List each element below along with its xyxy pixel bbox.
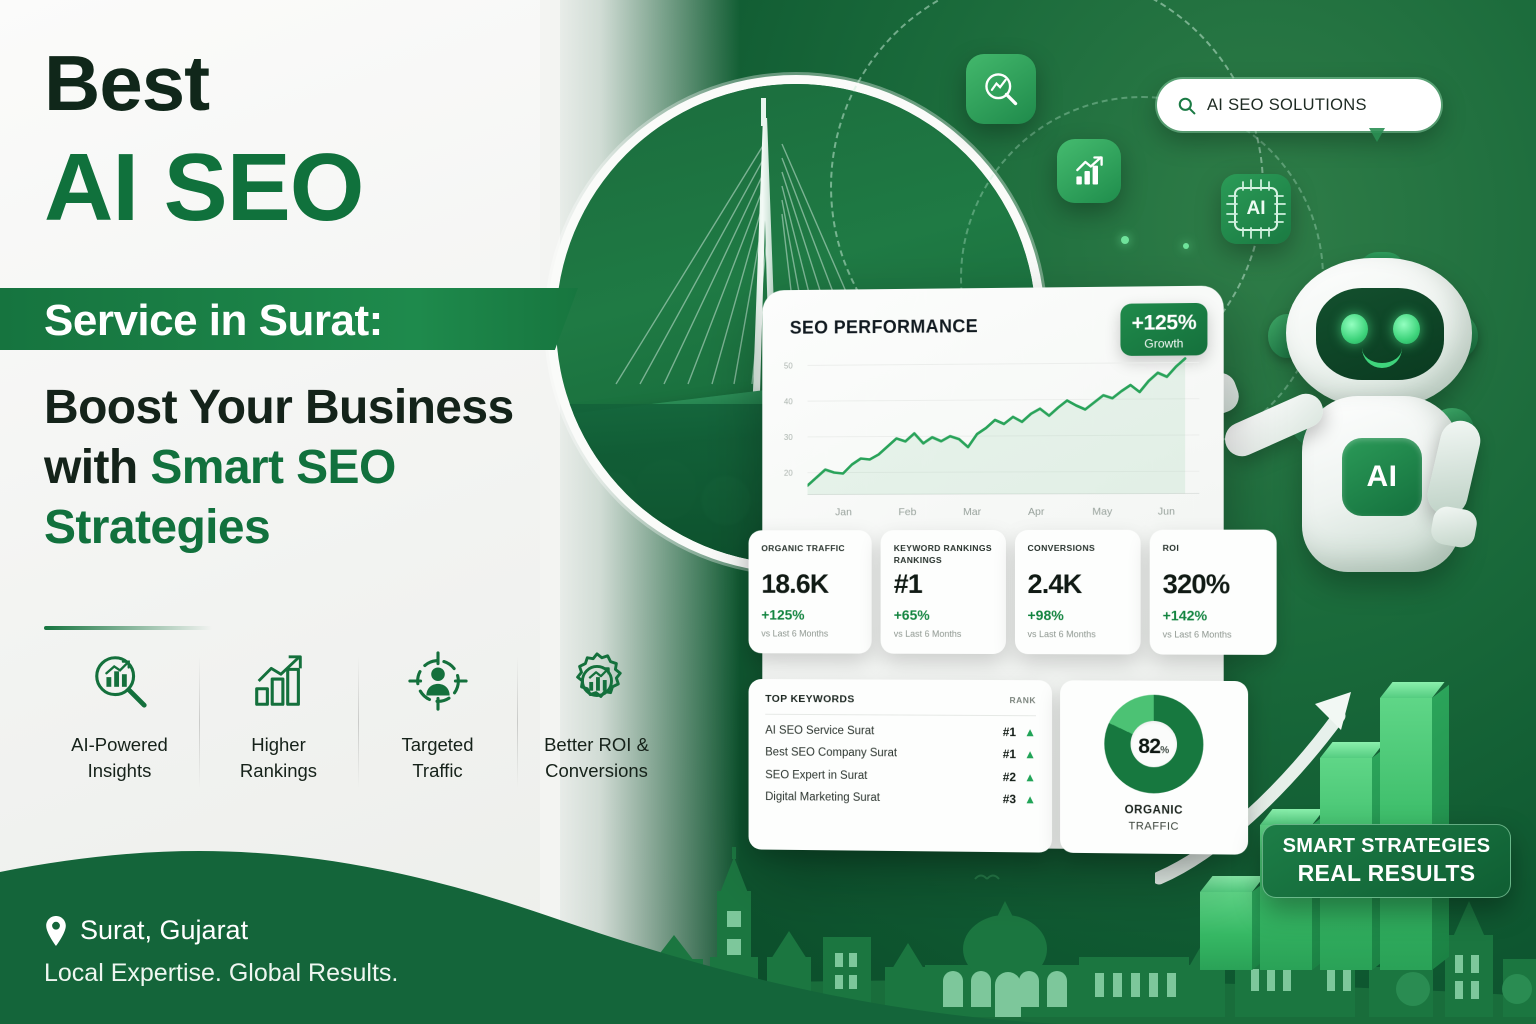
trend-up-icon: ▲ bbox=[1024, 793, 1036, 805]
donut-value: 82 bbox=[1138, 721, 1160, 759]
feature-label: Targeted Traffic bbox=[402, 732, 474, 783]
kpi-title: ROI bbox=[1163, 543, 1265, 567]
poster-canvas: Best AI SEO Service in Surat: Boost Your… bbox=[0, 0, 1536, 1024]
feature-item-targeted-traffic[interactable]: Targeted Traffic bbox=[358, 650, 517, 783]
seo-dashboard-panel: SEO PERFORMANCE +125% Growth 50 40 30 20… bbox=[762, 286, 1223, 851]
results-badge: SMART STRATEGIES REAL RESULTS bbox=[1262, 824, 1511, 898]
growth-badge-caption: Growth bbox=[1120, 333, 1207, 351]
table-row[interactable]: Digital Marketing Surat #3▲ bbox=[765, 782, 1036, 807]
x-tick-apr: Apr bbox=[1028, 506, 1044, 518]
bar-chart-arrow-icon[interactable] bbox=[1057, 139, 1121, 203]
growth-badge: +125% Growth bbox=[1120, 303, 1207, 356]
kpi-subtext: vs Last 6 Months bbox=[761, 628, 860, 638]
donut-percent-sign: % bbox=[1160, 745, 1169, 756]
donut-center-label: 82 % bbox=[1131, 721, 1177, 768]
kpi-delta: +65% bbox=[894, 607, 994, 623]
line-chart-svg bbox=[808, 352, 1200, 500]
kpi-value: 320% bbox=[1163, 571, 1265, 598]
kpi-subtext: vs Last 6 Months bbox=[1027, 629, 1128, 639]
feature-item-ai-powered-insights[interactable]: AI-Powered Insights bbox=[40, 650, 199, 783]
robot-eye-right bbox=[1393, 314, 1420, 344]
feature-item-higher-rankings[interactable]: Higher Rankings bbox=[199, 650, 358, 783]
feature-label-line2: Traffic bbox=[402, 758, 474, 784]
y-tick-0: 50 bbox=[784, 362, 793, 371]
ai-chip-icon[interactable]: AI bbox=[1221, 174, 1291, 244]
headline-line-2: AI SEO bbox=[44, 145, 363, 231]
kpi-subtext: vs Last 6 Months bbox=[1163, 629, 1265, 639]
keyword-rank: #3 bbox=[1003, 792, 1016, 806]
y-tick-3: 20 bbox=[784, 469, 793, 478]
subheadline-line-1: Boost Your Business bbox=[44, 378, 564, 438]
subheadline: Boost Your Business with Smart SEO Strat… bbox=[44, 378, 564, 558]
donut-chart: 82 % bbox=[1104, 695, 1203, 794]
headline-band: Service in Surat: bbox=[0, 288, 578, 350]
keyword-rank: #1 bbox=[1003, 747, 1016, 761]
x-tick-mar: Mar bbox=[963, 506, 981, 518]
kpi-title: CONVERSIONS bbox=[1027, 543, 1128, 567]
badge-line-1: SMART STRATEGIES bbox=[1283, 835, 1491, 858]
kpi-title: ORGANIC TRAFFIC bbox=[761, 543, 860, 567]
table-row[interactable]: SEO Expert in Surat #2▲ bbox=[765, 759, 1036, 783]
kpi-delta: +142% bbox=[1163, 607, 1265, 623]
orbit-node-dot-small bbox=[1183, 243, 1189, 249]
search-icon bbox=[1177, 96, 1196, 115]
keyword-name: Best SEO Company Surat bbox=[765, 746, 897, 759]
table-row[interactable]: AI SEO Service Surat #1▲ bbox=[765, 715, 1036, 739]
feature-label-line1: AI-Powered bbox=[71, 732, 168, 758]
location-text: Surat, Gujarat bbox=[80, 915, 248, 946]
feature-label-line1: Higher bbox=[240, 732, 317, 758]
trend-up-icon: ▲ bbox=[1024, 726, 1036, 738]
organic-traffic-donut-panel: 82 % ORGANIC TRAFFIC bbox=[1060, 680, 1248, 854]
keyword-name: Digital Marketing Surat bbox=[765, 791, 880, 804]
x-tick-feb: Feb bbox=[898, 506, 916, 518]
kpi-card-conversions[interactable]: CONVERSIONS 2.4K +98% vs Last 6 Months bbox=[1014, 530, 1140, 655]
keywords-title: TOP KEYWORDS bbox=[765, 693, 854, 705]
kpi-value: #1 bbox=[894, 571, 994, 598]
keywords-rank-header: RANK bbox=[1009, 695, 1036, 705]
top-keywords-panel: TOP KEYWORDS RANK AI SEO Service Surat #… bbox=[749, 679, 1052, 853]
kpi-value: 2.4K bbox=[1027, 571, 1128, 598]
kpi-value: 18.6K bbox=[761, 571, 860, 598]
keyword-rank: #1 bbox=[1003, 725, 1016, 739]
feature-label: Better ROI & Conversions bbox=[544, 732, 649, 783]
kpi-delta: +125% bbox=[761, 607, 860, 623]
feature-label-line2: Insights bbox=[71, 758, 168, 784]
x-tick-jun: Jun bbox=[1158, 506, 1175, 518]
feature-label-line1: Better ROI & bbox=[544, 732, 649, 758]
y-tick-1: 40 bbox=[784, 397, 793, 406]
kpi-card-keyword-rankings[interactable]: KEYWORD RANKINGS RANKINGS #1 +65% vs Las… bbox=[881, 530, 1006, 654]
subheadline-line-2: with Smart SEO bbox=[44, 438, 564, 498]
feature-item-better-roi-conversions[interactable]: Better ROI & Conversions bbox=[517, 650, 676, 783]
kpi-delta: +98% bbox=[1027, 607, 1128, 623]
keywords-header: TOP KEYWORDS RANK bbox=[765, 693, 1036, 716]
divider-rule bbox=[44, 626, 212, 630]
kpi-card-roi[interactable]: ROI 320% +142% vs Last 6 Months bbox=[1149, 530, 1276, 655]
ai-robot-mascot: AI bbox=[1246, 258, 1518, 610]
analytics-search-icon[interactable] bbox=[966, 54, 1036, 124]
location-block: Surat, Gujarat bbox=[44, 915, 248, 946]
feature-label: AI-Powered Insights bbox=[71, 732, 168, 783]
kpi-card-row: ORGANIC TRAFFIC 18.6K +125% vs Last 6 Mo… bbox=[749, 530, 1277, 655]
dashboard-title: SEO PERFORMANCE bbox=[790, 316, 978, 339]
feature-label-line1: Targeted bbox=[402, 732, 474, 758]
keyword-name: AI SEO Service Surat bbox=[765, 724, 874, 737]
feature-label-line2: Conversions bbox=[544, 758, 649, 784]
trend-up-icon: ▲ bbox=[1024, 748, 1036, 760]
headline-band-text: Service in Surat: bbox=[44, 296, 383, 346]
kpi-title: KEYWORD RANKINGS RANKINGS bbox=[894, 543, 994, 567]
target-user-icon bbox=[407, 650, 469, 712]
badge-line-2: REAL RESULTS bbox=[1298, 860, 1476, 887]
performance-line-chart: 50 40 30 20 Jan Feb Mar Apr May Jun bbox=[784, 352, 1201, 504]
donut-label-line1: ORGANIC bbox=[1125, 804, 1183, 817]
bar-column-1 bbox=[1200, 892, 1252, 970]
y-tick-2: 30 bbox=[784, 433, 793, 442]
x-tick-may: May bbox=[1092, 506, 1112, 518]
subheadline-prefix: with bbox=[44, 441, 150, 494]
robot-eye-left bbox=[1341, 314, 1368, 344]
map-pin-icon bbox=[44, 916, 68, 946]
feature-list: AI-Powered Insights Higher Rankings bbox=[40, 650, 676, 783]
gear-chart-icon bbox=[566, 650, 628, 712]
subheadline-line-3: Strategies bbox=[44, 498, 564, 558]
growth-badge-value: +125% bbox=[1120, 303, 1207, 334]
subheadline-highlight: Smart SEO bbox=[150, 441, 395, 494]
headline-line-1: Best bbox=[44, 48, 209, 120]
keyword-rank: #2 bbox=[1003, 770, 1016, 784]
table-row[interactable]: Best SEO Company Surat #1▲ bbox=[765, 737, 1036, 761]
search-query-text: AI SEO SOLUTIONS bbox=[1207, 96, 1367, 115]
trend-up-icon: ▲ bbox=[1024, 771, 1036, 783]
footer-tagline: Local Expertise. Global Results. bbox=[44, 959, 398, 988]
insights-magnifier-icon bbox=[89, 650, 151, 712]
search-bar[interactable]: AI SEO SOLUTIONS bbox=[1157, 79, 1441, 131]
kpi-card-organic-traffic[interactable]: ORGANIC TRAFFIC 18.6K +125% vs Last 6 Mo… bbox=[749, 530, 872, 653]
donut-label-line2: TRAFFIC bbox=[1129, 820, 1179, 833]
orbit-node-dot bbox=[1121, 236, 1129, 244]
x-tick-jan: Jan bbox=[835, 506, 852, 518]
feature-label-line2: Rankings bbox=[240, 758, 317, 784]
keyword-name: SEO Expert in Surat bbox=[765, 769, 867, 782]
robot-chest-badge: AI bbox=[1342, 438, 1422, 516]
feature-label: Higher Rankings bbox=[240, 732, 317, 783]
robot-chest-label: AI bbox=[1367, 460, 1398, 494]
kpi-subtext: vs Last 6 Months bbox=[894, 629, 994, 639]
bar-growth-icon bbox=[248, 650, 310, 712]
